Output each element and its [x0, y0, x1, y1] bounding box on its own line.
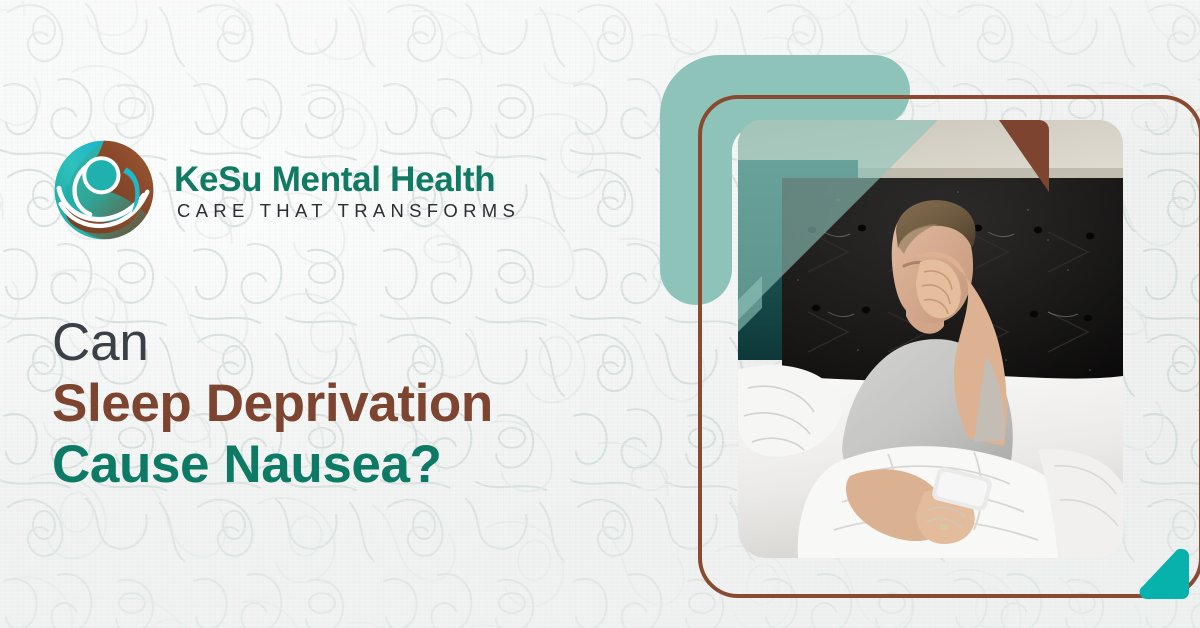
- brand-tagline: CARE THAT TRANSFORMS: [174, 200, 520, 222]
- brand-logo-block: KeSu Mental Health CARE THAT TRANSFORMS: [52, 138, 520, 242]
- kesu-circular-swoosh-logo-icon: [52, 138, 156, 242]
- headline-line-3: Cause Nausea?: [52, 434, 672, 495]
- headline-line-1: Can: [52, 312, 672, 373]
- banner-canvas: KeSu Mental Health CARE THAT TRANSFORMS …: [0, 0, 1200, 628]
- hero-image-composition: [640, 30, 1200, 628]
- brown-rounded-frame: [698, 95, 1200, 598]
- headline-block: Can Sleep Deprivation Cause Nausea?: [52, 312, 672, 496]
- headline-line-2: Sleep Deprivation: [52, 373, 672, 434]
- brand-text-group: KeSu Mental Health CARE THAT TRANSFORMS: [174, 158, 520, 223]
- teal-rounded-triangle-icon: [1135, 545, 1193, 603]
- brand-name: KeSu Mental Health: [174, 162, 520, 199]
